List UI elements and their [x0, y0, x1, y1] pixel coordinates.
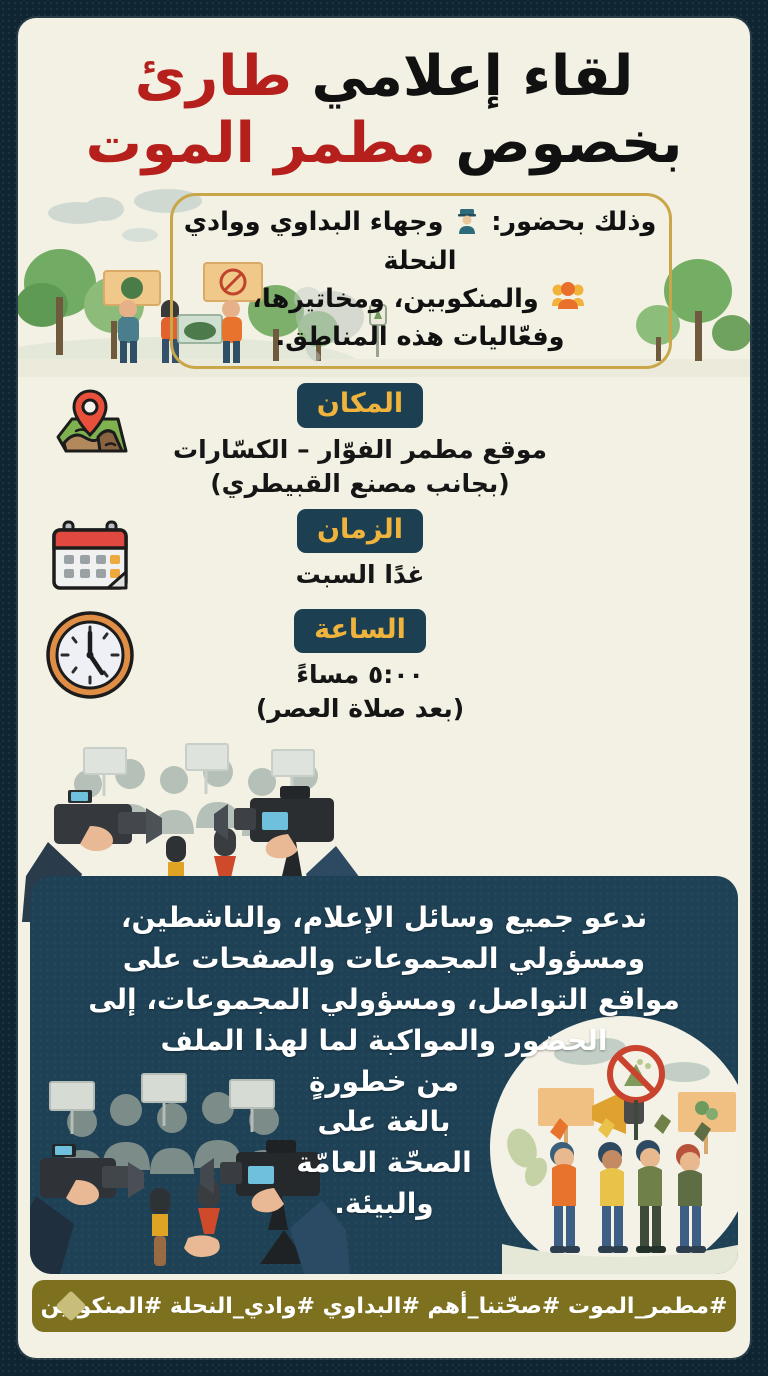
attendees-line-1: وذلك بحضور: وجهاء البداوي ووادي النحلة [178, 203, 662, 280]
clock-icon [44, 609, 136, 701]
poster-title: لقاء إعلامي طارئ بخصوص مطمر الموت [18, 18, 750, 181]
title-line-1: لقاء إعلامي طارئ [44, 46, 724, 109]
badge-place: المكان [297, 383, 423, 428]
poster-card: لقاء إعلامي طارئ بخصوص مطمر الموت [18, 18, 750, 1358]
info-body-place: المكان موقع مطمر الفوّار – الكسّارات (بج… [150, 383, 570, 500]
cta-line-4: الحضور والمواكبة لما لهذا الملف [56, 1021, 712, 1062]
cta-line-1: ندعو جميع وسائل الإعلام، والناشطين، [56, 898, 712, 939]
cta-line-2: ومسؤولي المجموعات والصفحات على [56, 939, 712, 980]
badge-time: الساعة [294, 609, 426, 654]
date-main: غدًا السبت [296, 560, 425, 589]
people-group-icon [551, 281, 585, 311]
place-sub: (بجانب مصنع القبيطري) [150, 467, 570, 501]
info-row-date: الزمان غدًا السبت [44, 509, 724, 601]
person-with-hat-icon [455, 208, 479, 234]
cta-line-7: الصحّة العامّة [56, 1143, 712, 1184]
attendees-band: وذلك بحضور: وجهاء البداوي ووادي النحلة [18, 187, 750, 377]
info-body-time: الساعة ٥:٠٠ مساءً (بعد صلاة العصر) [150, 609, 570, 726]
hashtag-text: #مطمر_الموت #صحّتنا_أهم #البداوي #وادي_ا… [41, 1294, 728, 1319]
cta-text: ندعو جميع وسائل الإعلام، والناشطين، ومسؤ… [56, 898, 712, 1225]
title-line2-red: مطمر الموت [86, 111, 436, 176]
date-value: غدًا السبت [150, 558, 570, 592]
attendees-line-2: والمنكوبين، ومخاتيرها، [178, 280, 662, 318]
time-value: ٥:٠٠ مساءً (بعد صلاة العصر) [150, 658, 570, 726]
time-sub: (بعد صلاة العصر) [150, 692, 570, 726]
time-main: ٥:٠٠ مساءً [296, 660, 424, 689]
cta-line-3: مواقع التواصل، ومسؤولي المجموعات، إلى [56, 980, 712, 1021]
title-line2-black: بخصوص [455, 111, 682, 176]
title-line1-black: لقاء إعلامي [312, 44, 634, 109]
info-row-time: الساعة ٥:٠٠ مساءً (بعد صلاة العصر) [44, 609, 724, 726]
title-line-2: بخصوص مطمر الموت [86, 113, 683, 176]
place-main: موقع مطمر الفوّار – الكسّارات [173, 435, 547, 464]
event-details: المكان موقع مطمر الفوّار – الكسّارات (بج… [18, 377, 750, 726]
info-row-place: المكان موقع مطمر الفوّار – الكسّارات (بج… [44, 383, 724, 500]
cta-line-6: بالغة على [56, 1102, 712, 1143]
info-body-date: الزمان غدًا السبت [150, 509, 570, 593]
badge-date: الزمان [297, 509, 423, 554]
attendees-text: وذلك بحضور: وجهاء البداوي ووادي النحلة [178, 203, 662, 356]
cta-line-8: والبيئة. [56, 1184, 712, 1225]
cta-line-5: من خطورةٍ [56, 1062, 712, 1103]
place-value: موقع مطمر الفوّار – الكسّارات (بجانب مصن… [150, 433, 570, 501]
map-location-pin-icon [44, 383, 136, 475]
title-line1-red: طارئ [135, 44, 292, 109]
cta-block: ندعو جميع وسائل الإعلام، والناشطين، ومسؤ… [30, 876, 738, 1274]
calendar-icon [44, 509, 136, 601]
hashtag-bar: #مطمر_الموت #صحّتنا_أهم #البداوي #وادي_ا… [32, 1280, 736, 1332]
attendees-line-3: وفعّاليات هذه المناطق. [178, 318, 662, 356]
